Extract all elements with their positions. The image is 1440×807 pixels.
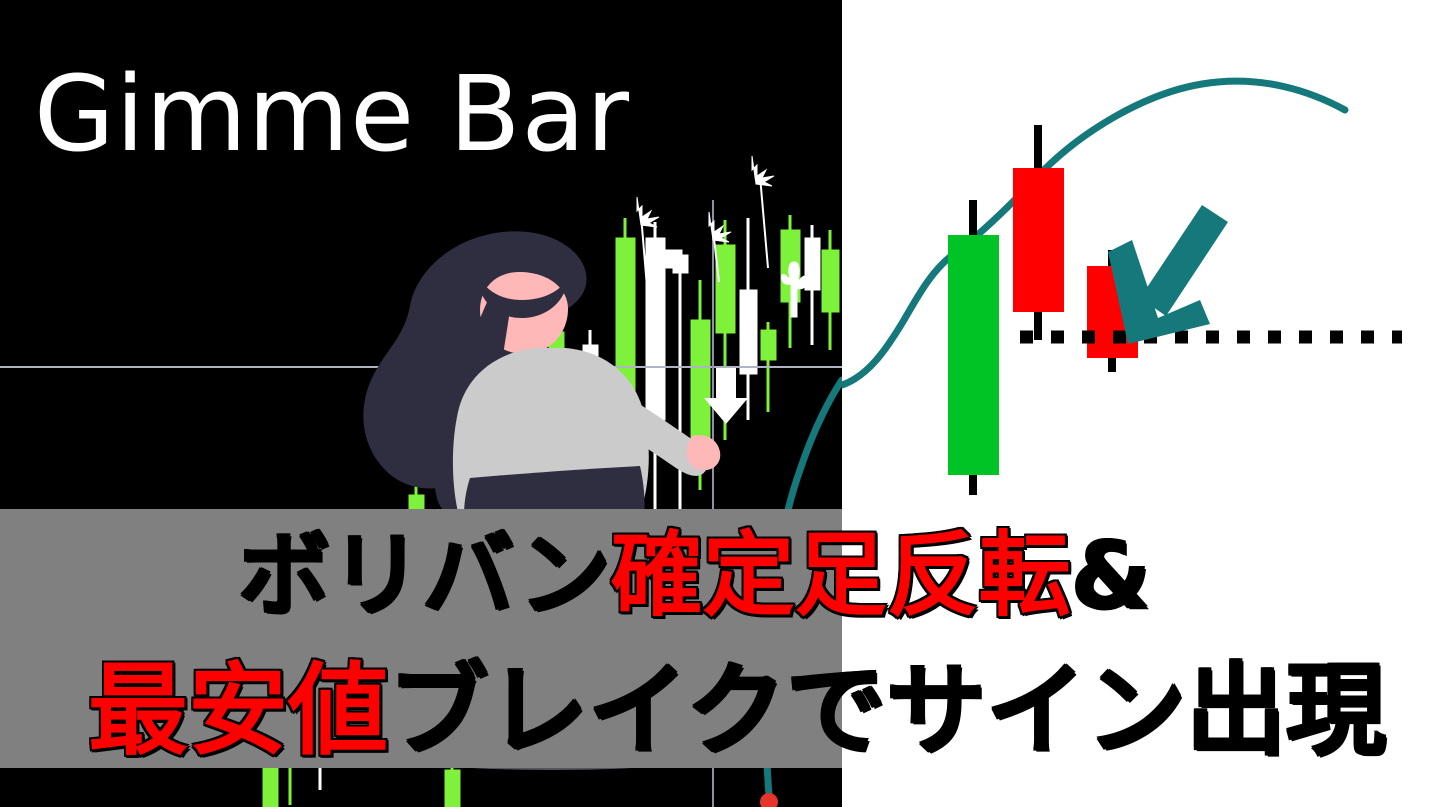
gray-caption-band — [0, 509, 842, 768]
right-signal-chart-panel — [842, 0, 1440, 807]
page-title: Gimme Bar — [34, 62, 630, 166]
thumbnail-canvas: Gimme Bar ボリバン確定足反転& 最安値ブレイクでサイン出現 — [0, 0, 1440, 807]
candle-bullish — [948, 200, 999, 495]
hand — [687, 435, 720, 470]
signal-arrow-icon — [1108, 205, 1228, 344]
right-panel-chart-svg — [842, 0, 1440, 807]
